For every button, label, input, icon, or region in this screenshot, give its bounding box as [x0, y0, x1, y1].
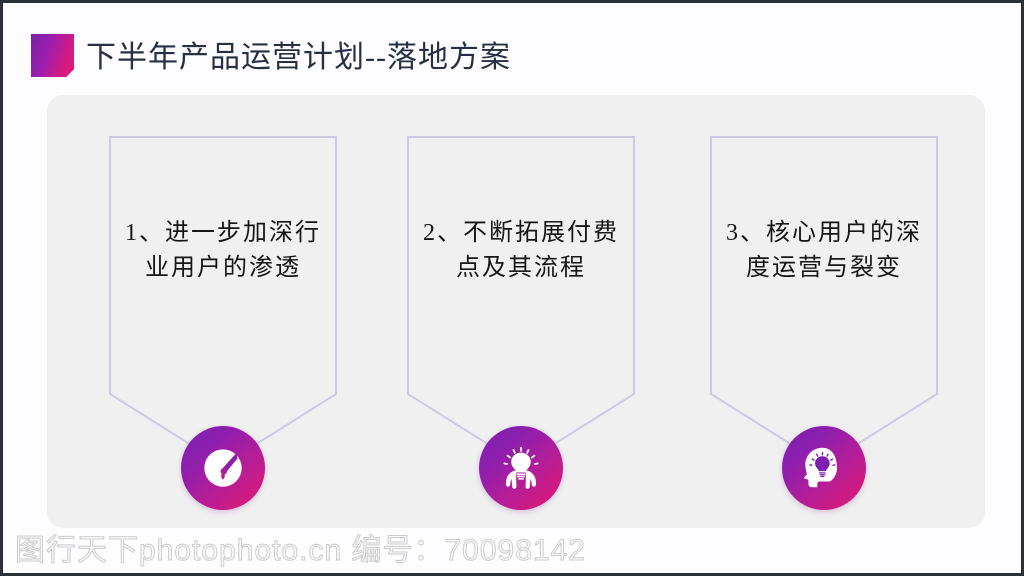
head-with-lightbulb-icon: [782, 426, 866, 510]
pentagon-banner-shape: [710, 136, 938, 466]
gauge-speedometer-icon: [181, 426, 265, 510]
plan-card-1[interactable]: 1、进一步加深行业用户的渗透: [109, 136, 337, 466]
pentagon-banner-shape: [407, 136, 635, 466]
slide-header: 下半年产品运营计划--落地方案: [3, 3, 1024, 93]
slide-canvas: 下半年产品运营计划--落地方案 1、进一步加深行业用户的渗透: [0, 0, 1024, 576]
plan-card-1-text: 1、进一步加深行业用户的渗透: [117, 216, 329, 286]
watermark-text: 图行天下photophoto.cn 编号：70098142: [15, 525, 586, 569]
cards-row: 1、进一步加深行业用户的渗透 2、不断拓展付费点及其流程: [47, 95, 985, 528]
gradient-square-mark-icon: [31, 34, 74, 77]
plan-card-3-text: 3、核心用户的深度运营与裂变: [718, 216, 930, 286]
plan-card-2-text: 2、不断拓展付费点及其流程: [415, 216, 627, 286]
pentagon-banner-shape: [109, 136, 337, 466]
plan-card-3[interactable]: 3、核心用户的深度运营与裂变: [710, 136, 938, 466]
plan-card-2[interactable]: 2、不断拓展付费点及其流程: [407, 136, 635, 466]
page-title: 下半年产品运营计划--落地方案: [86, 32, 511, 76]
hands-holding-lightbulb-icon: [479, 426, 563, 510]
